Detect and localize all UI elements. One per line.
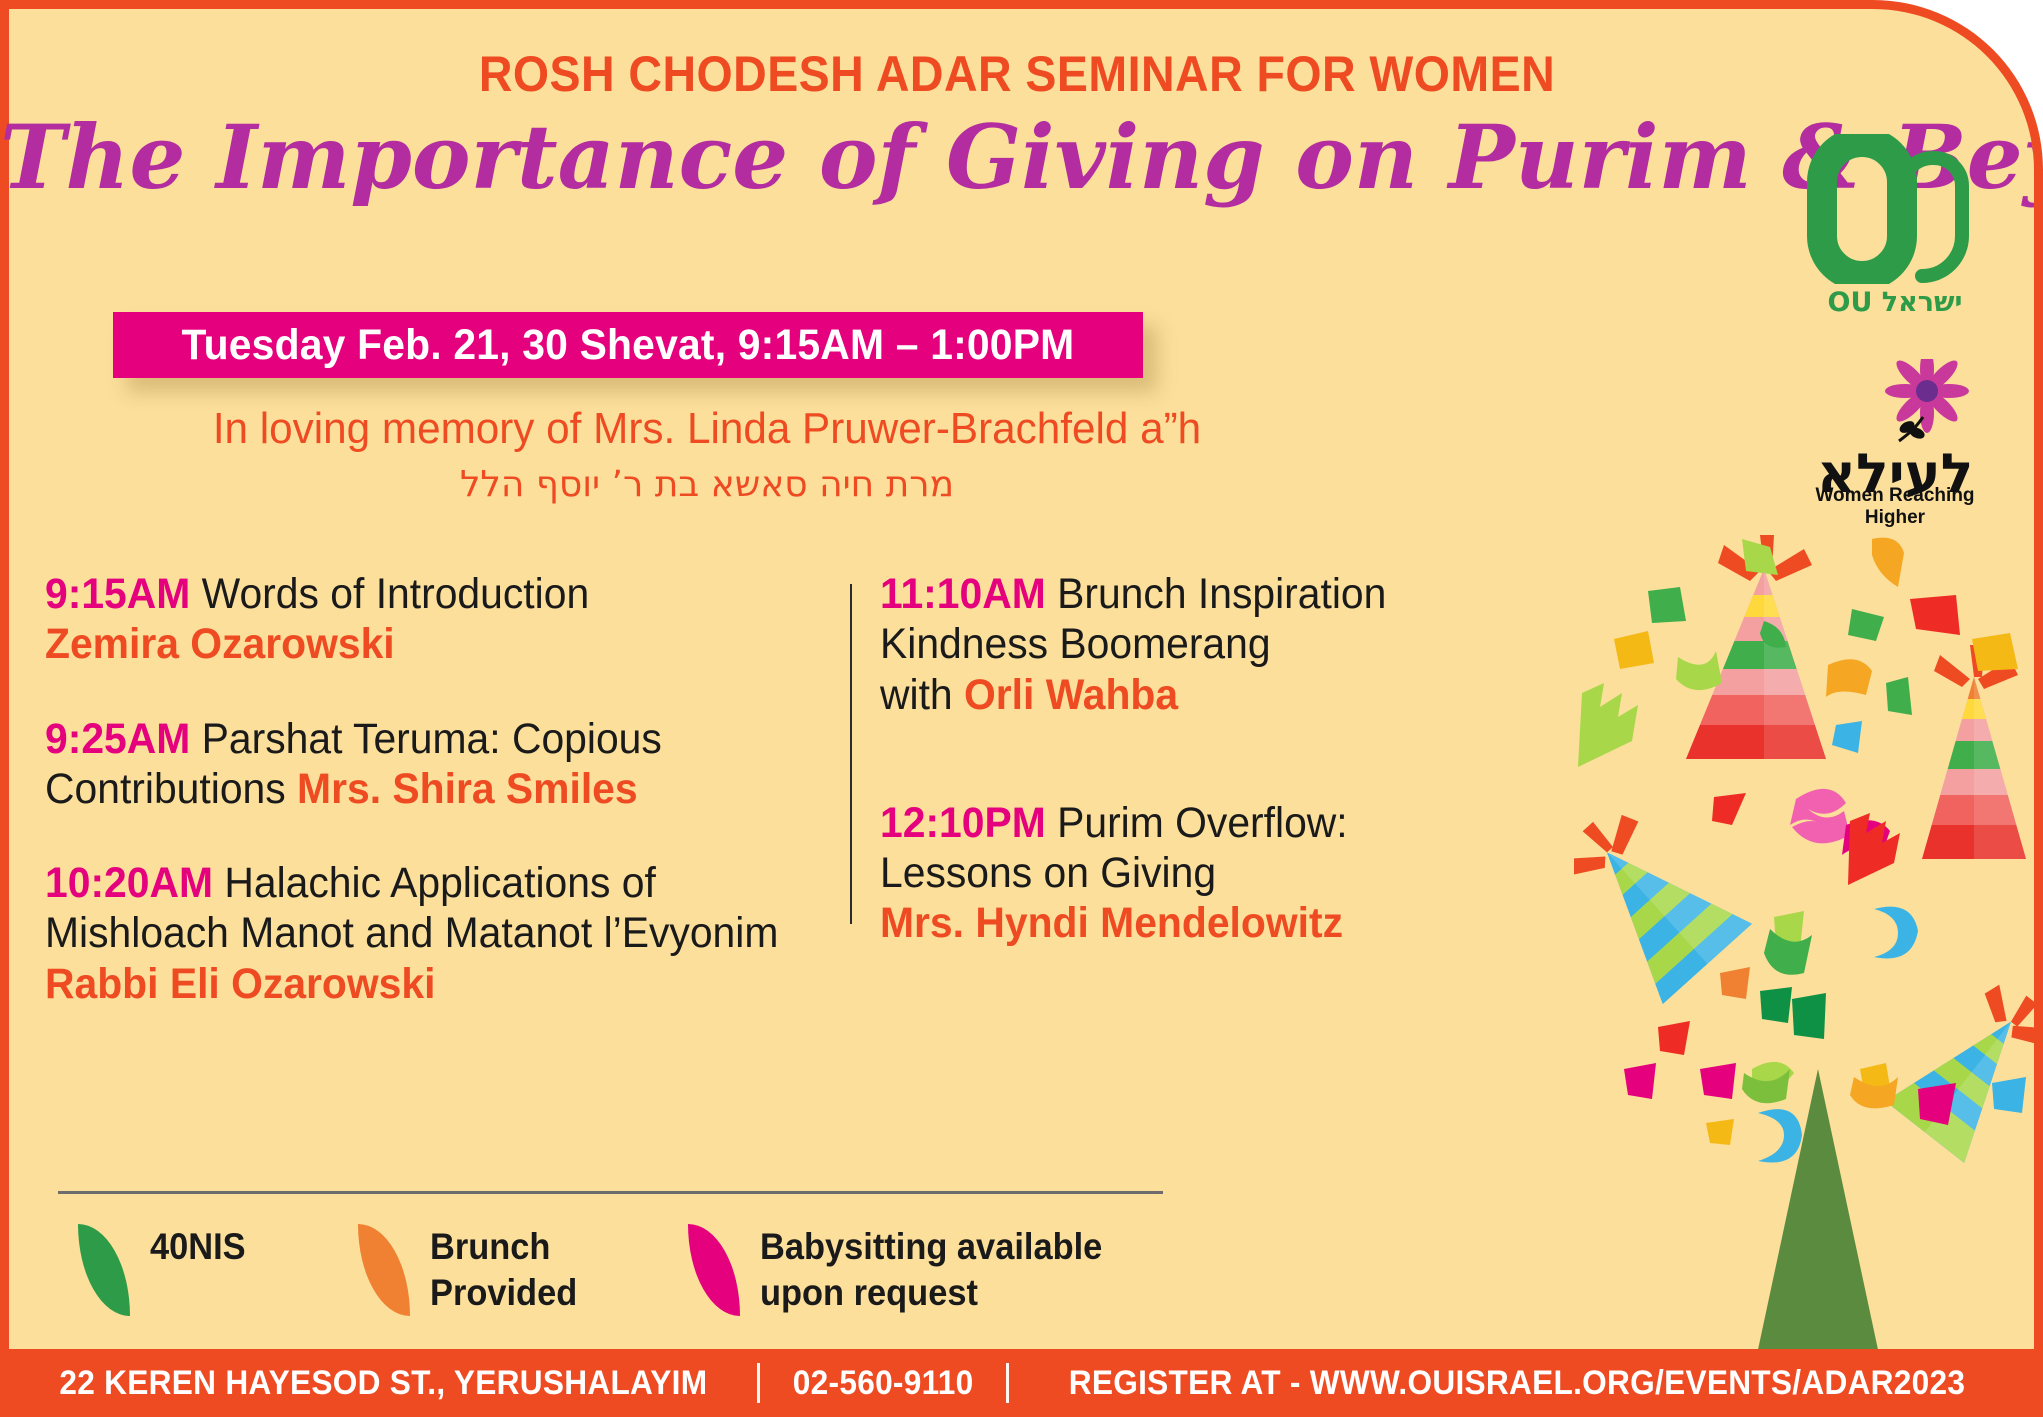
confetti-and-hats-illustration xyxy=(1574,529,2034,1359)
perk-label: BrunchProvided xyxy=(430,1224,577,1317)
leaf-icon xyxy=(78,1224,130,1316)
session-speaker: Mrs. Shira Smiles xyxy=(297,765,638,813)
session-item: 12:10PM Purim Overflow: Lessons on Givin… xyxy=(880,798,1500,949)
session-title: Words of Introduction xyxy=(190,570,589,618)
date-banner-text: Tuesday Feb. 21, 30 Shevat, 9:15AM – 1:0… xyxy=(182,321,1075,370)
session-item: 9:15AM Words of IntroductionZemira Ozaro… xyxy=(45,569,835,670)
layla-logo-tagline: Women Reaching Higher xyxy=(1795,485,1995,529)
session-time: 12:10PM xyxy=(880,799,1046,847)
page-kicker: ROSH CHODESH ADAR SEMINAR FOR WOMEN xyxy=(71,45,1963,103)
session-item: 11:10AM Brunch Inspiration Kindness Boom… xyxy=(880,569,1500,720)
footer-phone[interactable]: 02-560-9110 xyxy=(793,1364,974,1403)
session-speaker: Mrs. Hyndi Mendelowitz xyxy=(880,899,1343,947)
perks-divider xyxy=(58,1191,1163,1194)
leaf-icon xyxy=(688,1224,740,1316)
session-time: 11:10AM xyxy=(880,570,1046,618)
footer-bar: 22 KEREN HAYESOD ST., YERUSHALAYIM 02-56… xyxy=(0,1349,2034,1417)
session-speaker: Orli Wahba xyxy=(964,671,1178,719)
perk-label: 40NIS xyxy=(150,1224,246,1270)
schedule-column-left: 9:15AM Words of IntroductionZemira Ozaro… xyxy=(45,569,835,1053)
perk-label: Babysitting availableupon request xyxy=(760,1224,1102,1317)
footer-register-link[interactable]: REGISTER AT - WWW.OUISRAEL.ORG/EVENTS/AD… xyxy=(1069,1364,1966,1403)
session-speaker: Zemira Ozarowski xyxy=(45,620,395,668)
column-divider xyxy=(850,584,852,924)
ou-israel-logo: OU ישראל xyxy=(1800,134,1990,314)
session-time: 9:25AM xyxy=(45,715,190,763)
memorial-english: In loving memory of Mrs. Linda Pruwer-Br… xyxy=(28,404,1385,454)
session-item: 10:20AM Halachic Applications of Mishloa… xyxy=(45,858,835,1009)
memorial-hebrew: מרת חיה סאשא בת ר’ יוסף הלל xyxy=(0,464,1414,505)
session-time: 10:20AM xyxy=(45,859,213,907)
leaf-icon xyxy=(358,1224,410,1316)
flyer-canvas: ROSH CHODESH ADAR SEMINAR FOR WOMEN The … xyxy=(0,0,2043,1417)
perk-item-babysitting: Babysitting availableupon request xyxy=(688,1224,1128,1317)
footer-address: 22 KEREN HAYESOD ST., YERUSHALAYIM xyxy=(59,1364,707,1403)
footer-separator xyxy=(1006,1363,1009,1403)
ou-logo-hebrew: OU ישראל xyxy=(1800,287,1990,318)
party-decoration xyxy=(1574,529,2034,1359)
footer-separator xyxy=(757,1363,760,1403)
party-hat-icon xyxy=(1871,961,2034,1183)
session-speaker: Rabbi Eli Ozarowski xyxy=(45,960,435,1008)
perk-item-brunch: BrunchProvided xyxy=(358,1224,588,1317)
perk-item-fee: 40NIS xyxy=(78,1224,253,1316)
session-speaker-prefix: with xyxy=(880,671,964,719)
party-hat-icon xyxy=(1914,645,2034,869)
ou-monogram-icon xyxy=(1800,134,1990,284)
session-item: 9:25AM Parshat Teruma: Copious Contribut… xyxy=(45,714,835,815)
session-time: 9:15AM xyxy=(45,570,190,618)
perks-row: 40NIS BrunchProvided Babysitting availab… xyxy=(58,1224,1168,1339)
schedule-column-right: 11:10AM Brunch Inspiration Kindness Boom… xyxy=(880,569,1500,993)
layla-logo: לעילא Women Reaching Higher xyxy=(1795,369,1995,529)
page-title: The Importance of Giving on Purim & Beyo… xyxy=(0,105,1974,209)
date-banner: Tuesday Feb. 21, 30 Shevat, 9:15AM – 1:0… xyxy=(113,312,1143,378)
